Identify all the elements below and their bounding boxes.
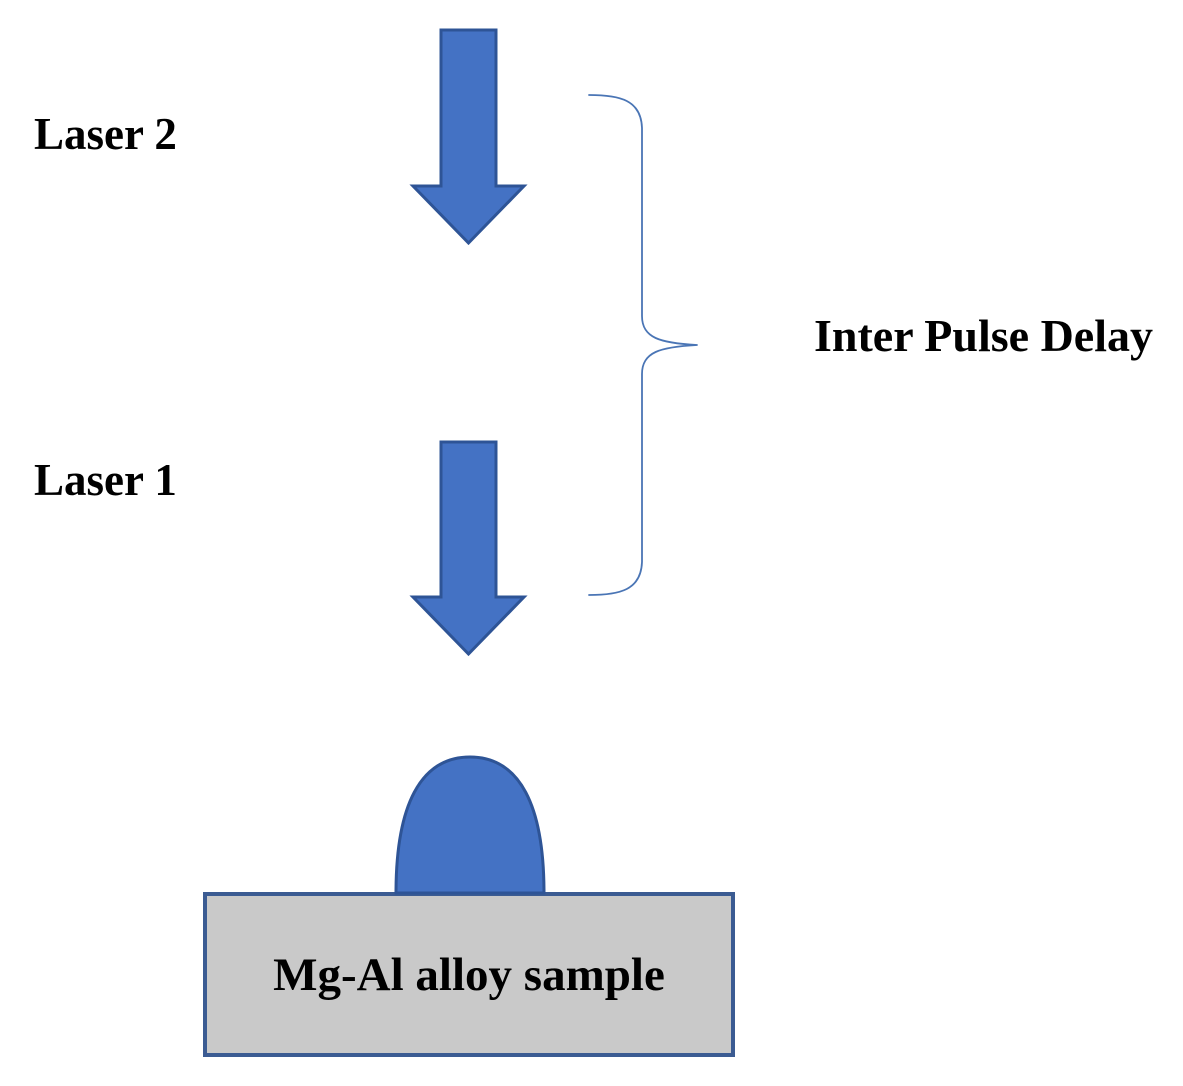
schematic-graphics: [0, 0, 1183, 1086]
inter-pulse-delay-brace: [589, 95, 697, 595]
diagram-canvas: Laser 2 Laser 1 Inter Pulse Delay Mg-Al …: [0, 0, 1183, 1086]
down-arrow-laser-2: [413, 30, 524, 243]
mg-al-alloy-sample-block: [205, 894, 733, 1055]
plasma-plume: [396, 757, 544, 893]
label-laser-1: Laser 1: [34, 458, 177, 503]
label-laser-2: Laser 2: [34, 112, 177, 157]
label-inter-pulse-delay: Inter Pulse Delay: [814, 313, 1153, 359]
down-arrow-laser-1: [413, 442, 524, 654]
